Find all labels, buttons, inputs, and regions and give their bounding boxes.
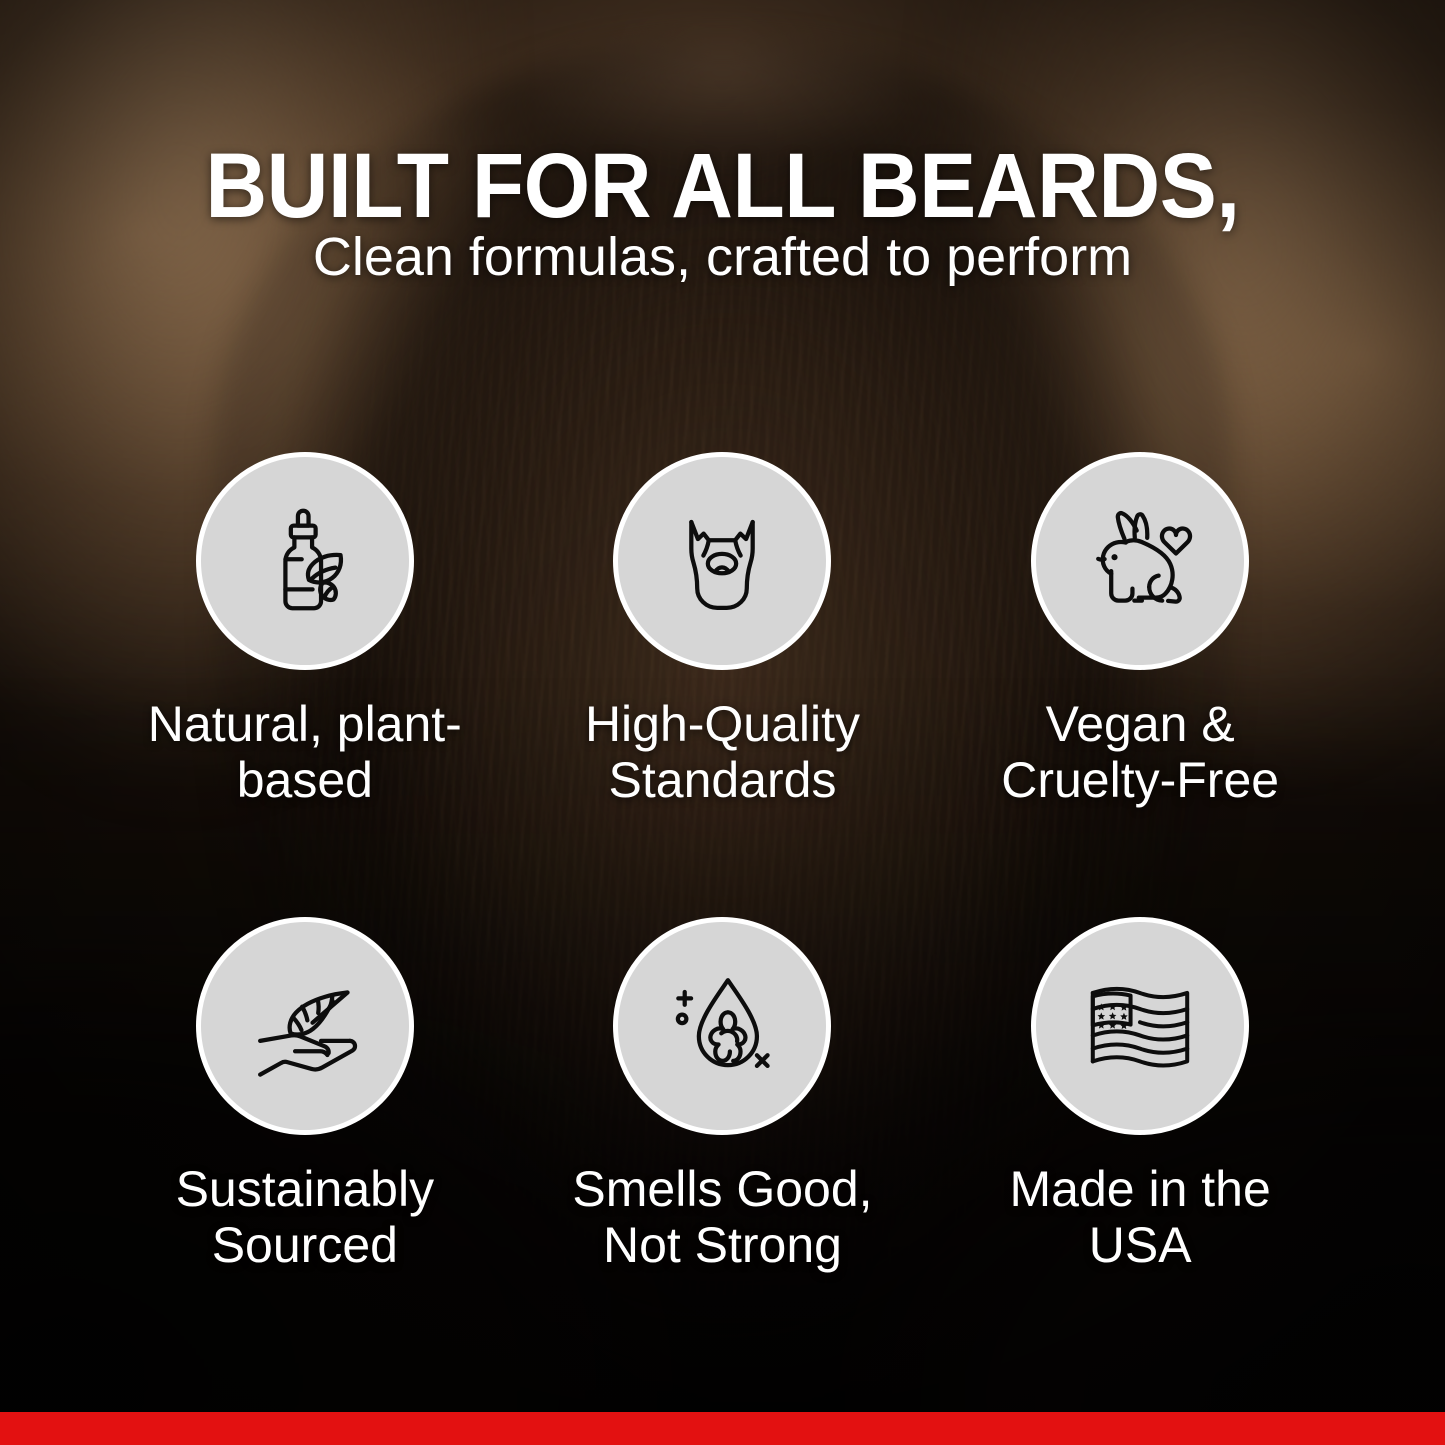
dropper-bottle-leaves-icon [246, 502, 364, 620]
droplet-flower-icon [663, 967, 781, 1085]
beard-icon [663, 502, 781, 620]
page-title: BUILT FOR ALL BEARDS, [51, 140, 1395, 232]
feature-label: Smells Good, Not Strong [572, 1161, 872, 1273]
feature-badge [613, 917, 831, 1135]
promo-poster: BUILT FOR ALL BEARDS, Clean formulas, cr… [0, 0, 1445, 1445]
page-subtitle: Clean formulas, crafted to perform [0, 228, 1445, 287]
feature-label: Vegan & Cruelty-Free [1001, 696, 1279, 808]
hand-feather-icon [246, 967, 364, 1085]
feature-label: Natural, plant- based [148, 696, 462, 808]
feature-item: High-Quality Standards [514, 452, 932, 917]
accent-bar [0, 1412, 1445, 1445]
feature-badge [196, 917, 414, 1135]
feature-label: Made in the USA [1010, 1161, 1271, 1273]
feature-badge [613, 452, 831, 670]
feature-badge [196, 452, 414, 670]
rabbit-heart-icon [1081, 502, 1199, 620]
feature-item: Smells Good, Not Strong [514, 917, 932, 1382]
feature-badge [1031, 452, 1249, 670]
feature-label: Sustainably Sourced [176, 1161, 435, 1273]
feature-item: Made in the USA [931, 917, 1349, 1382]
feature-item: Sustainably Sourced [96, 917, 514, 1382]
feature-label: High-Quality Standards [585, 696, 860, 808]
feature-item: Vegan & Cruelty-Free [931, 452, 1349, 917]
usa-flag-icon [1081, 967, 1199, 1085]
poster-content: BUILT FOR ALL BEARDS, Clean formulas, cr… [0, 0, 1445, 1445]
feature-item: Natural, plant- based [96, 452, 514, 917]
feature-grid: Natural, plant- based High-Quality Stand… [96, 452, 1349, 1382]
feature-badge [1031, 917, 1249, 1135]
